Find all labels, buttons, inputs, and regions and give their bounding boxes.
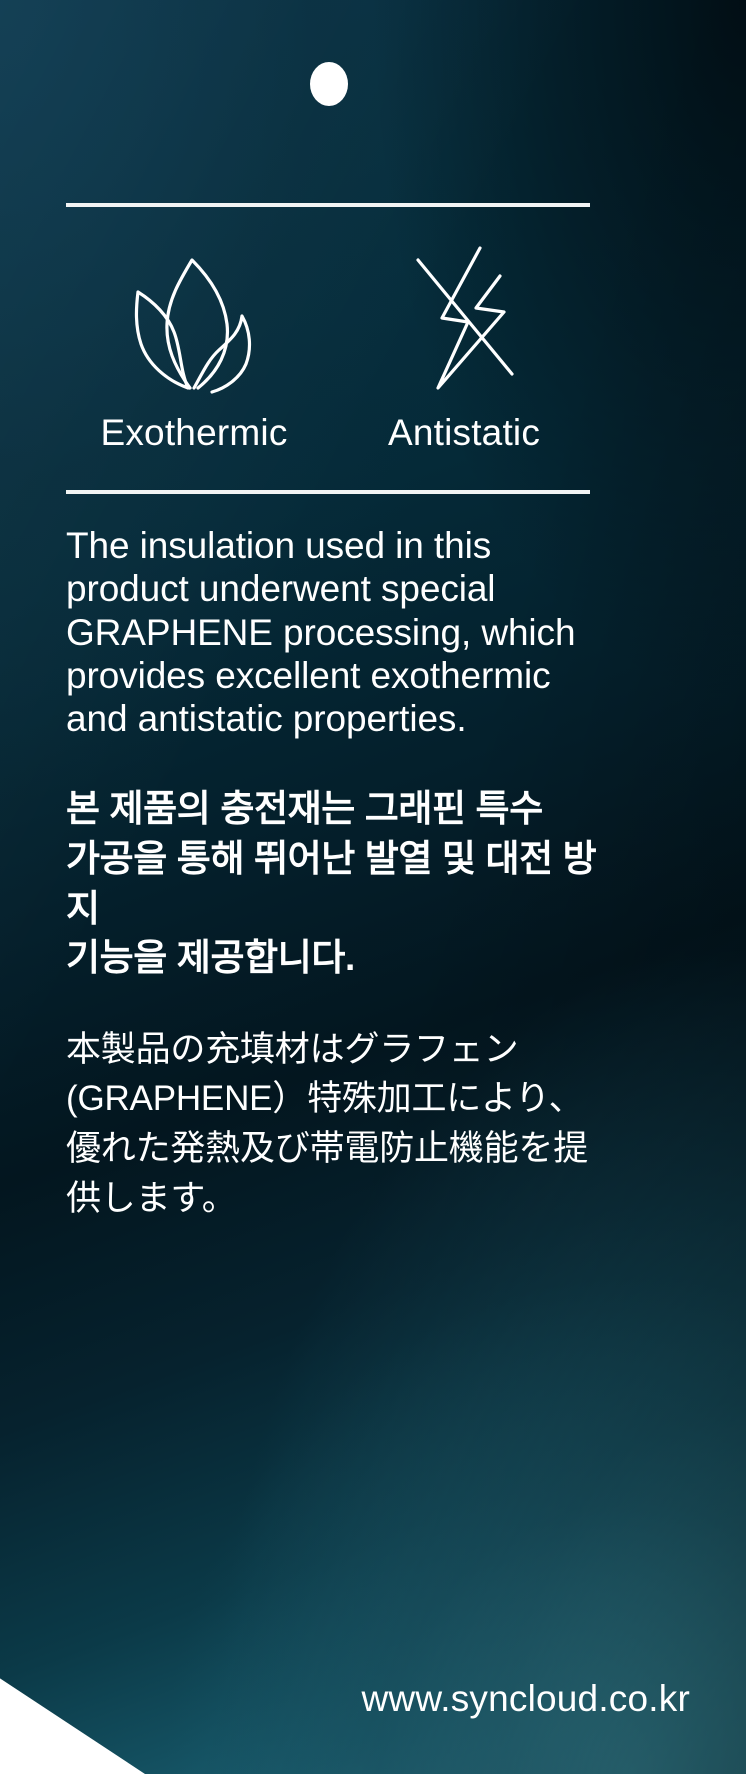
feature-label-antistatic: Antistatic [388, 412, 540, 454]
text-line: 供します。 [66, 1174, 612, 1224]
divider-top [66, 203, 590, 207]
text-line: 本製品の充填材はグラフェン [66, 1025, 612, 1075]
divider-middle [66, 490, 590, 494]
text-line: The insulation used in this [66, 524, 612, 567]
website-url[interactable]: www.syncloud.co.kr [362, 1678, 691, 1720]
text-line: 본 제품의 충전재는 그래핀 특수 [66, 784, 612, 834]
description-block: The insulation used in this product unde… [66, 524, 612, 1223]
text-line: product underwent special [66, 567, 612, 610]
text-line: 가공을 통해 뛰어난 발열 및 대전 방지 [66, 834, 612, 933]
text-line: provides excellent exothermic [66, 654, 612, 697]
feature-exothermic: Exothermic [66, 238, 322, 454]
text-line: 기능을 제공합니다. [66, 933, 612, 983]
hang-tag-punch-hole [310, 62, 348, 106]
product-hang-tag: Exothermic Antistatic The insulation use… [0, 0, 746, 1774]
text-line: GRAPHENE processing, which [66, 611, 612, 654]
feature-label-exothermic: Exothermic [100, 412, 287, 454]
paragraph-english: The insulation used in this product unde… [66, 524, 612, 740]
text-line: 優れた発熱及び帯電防止機能を提 [66, 1124, 612, 1174]
no-static-lightning-icon [384, 238, 544, 398]
feature-antistatic: Antistatic [336, 238, 592, 454]
feature-icon-row: Exothermic Antistatic [66, 238, 606, 454]
flame-icon [114, 238, 274, 398]
paragraph-korean: 본 제품의 충전재는 그래핀 특수 가공을 통해 뛰어난 발열 및 대전 방지 … [66, 784, 612, 982]
text-line: and antistatic properties. [66, 697, 612, 740]
paragraph-japanese: 本製品の充填材はグラフェン (GRAPHENE）特殊加工により、 優れた発熱及び… [66, 1025, 612, 1224]
text-line: (GRAPHENE）特殊加工により、 [66, 1074, 612, 1124]
